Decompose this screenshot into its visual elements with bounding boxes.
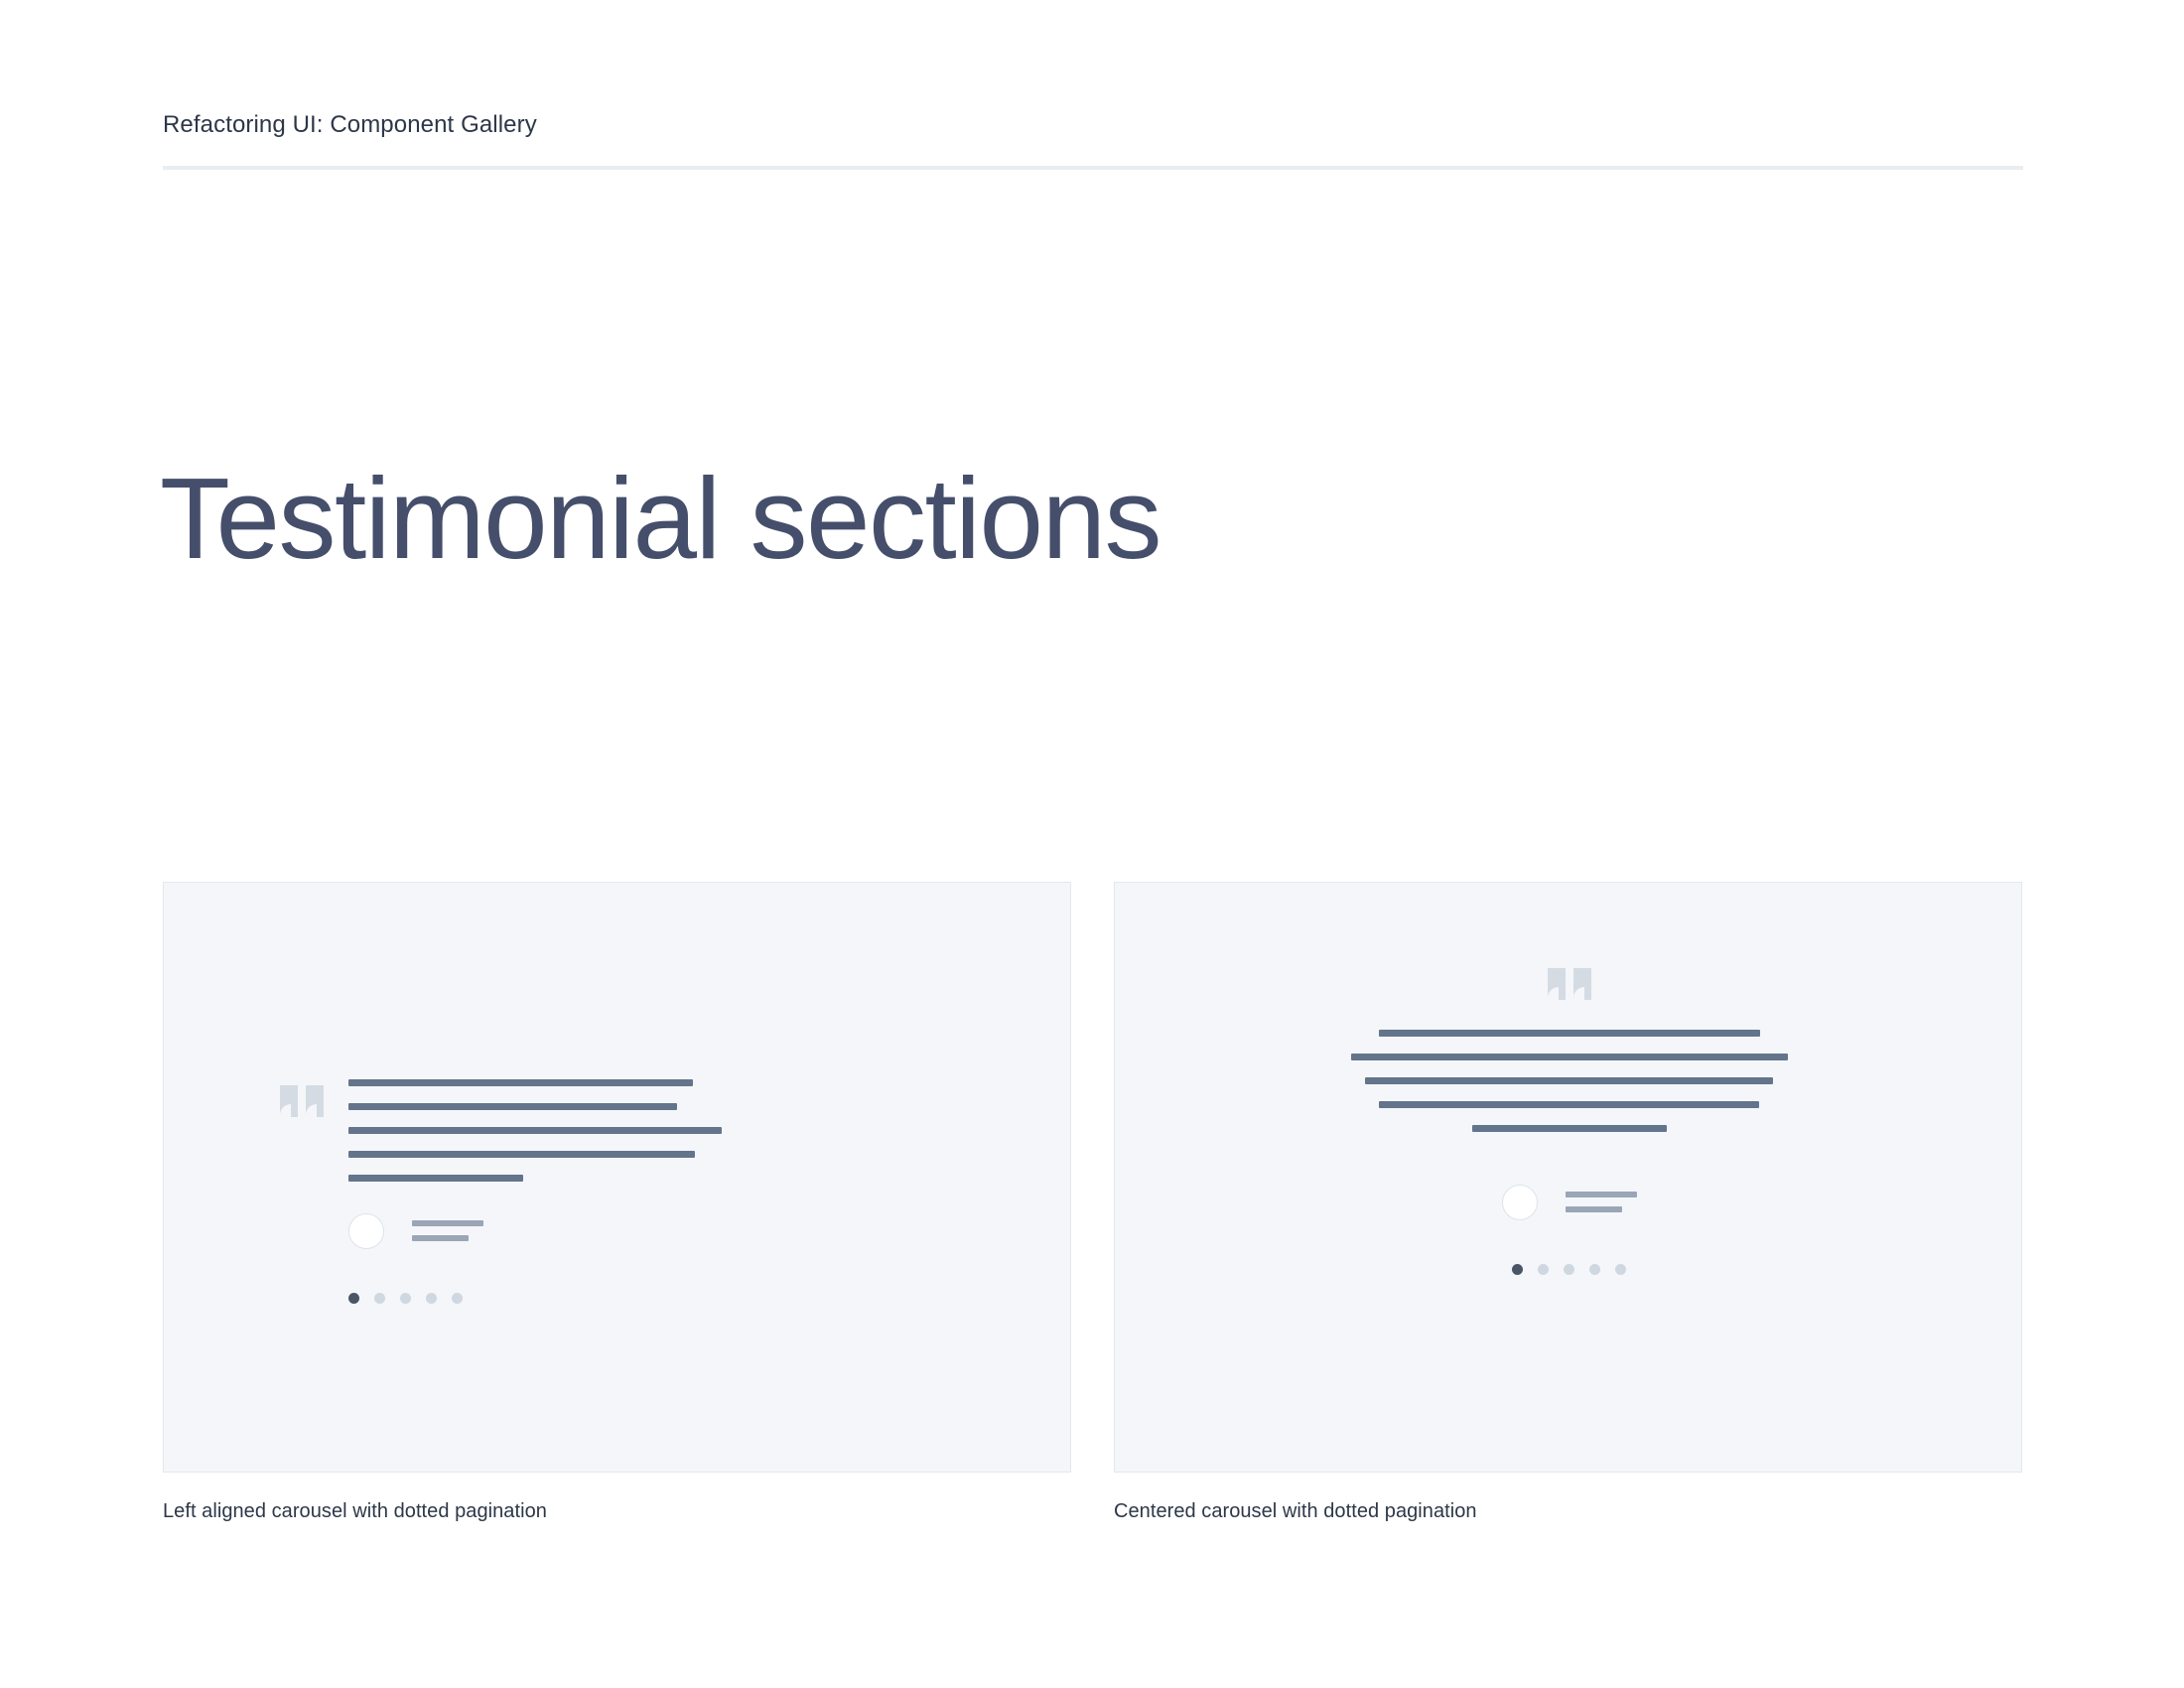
quote-icon <box>280 1085 324 1119</box>
pagination-dot-4[interactable] <box>426 1293 437 1304</box>
attribution-text-block <box>1566 1185 1637 1212</box>
attribution-line <box>1566 1192 1637 1197</box>
quote-line <box>348 1103 677 1110</box>
quote-glyph-left <box>1548 968 1566 1000</box>
pagination-dot-3[interactable] <box>400 1293 411 1304</box>
quote-line <box>348 1151 695 1158</box>
pagination-dot-4[interactable] <box>1589 1264 1600 1275</box>
avatar <box>348 1213 384 1249</box>
pagination-dot-5[interactable] <box>1615 1264 1626 1275</box>
testimonial-wireframe-left <box>280 1079 955 1304</box>
attribution-line <box>412 1235 469 1241</box>
pagination-dot-1[interactable] <box>1512 1264 1523 1275</box>
attribution-line <box>412 1220 483 1226</box>
quote-line <box>348 1079 693 1086</box>
preview-card-centered[interactable] <box>1114 882 2022 1473</box>
gallery-item-centered: Centered carousel with dotted pagination <box>1114 882 2022 1525</box>
header: Refactoring UI: Component Gallery <box>163 109 2023 141</box>
quote-line <box>1472 1125 1667 1132</box>
header-title: Refactoring UI: Component Gallery <box>163 109 2023 141</box>
page-title: Testimonial sections <box>160 449 1160 588</box>
carousel-pagination-dots[interactable] <box>1512 1264 1626 1275</box>
quote-line <box>1351 1054 1788 1060</box>
preview-card-left-aligned[interactable] <box>163 882 1071 1473</box>
quote-line <box>1379 1030 1760 1037</box>
card-caption: Left aligned carousel with dotted pagina… <box>163 1497 1071 1525</box>
pagination-dot-5[interactable] <box>452 1293 463 1304</box>
testimonial-quote-block <box>348 1079 955 1304</box>
pagination-dot-2[interactable] <box>1538 1264 1549 1275</box>
pagination-dot-1[interactable] <box>348 1293 359 1304</box>
testimonial-quote-block <box>1272 1030 1867 1275</box>
avatar <box>1502 1185 1538 1220</box>
attribution-line <box>1566 1206 1622 1212</box>
quote-glyph-right <box>1573 968 1591 1000</box>
carousel-pagination-dots[interactable] <box>348 1293 955 1304</box>
page-root: Refactoring UI: Component Gallery Testim… <box>0 0 2184 1688</box>
testimonial-wireframe-centered <box>1115 883 2023 1474</box>
quote-line <box>1365 1077 1773 1084</box>
attribution-text-block <box>412 1213 483 1241</box>
testimonial-attribution <box>1502 1185 1637 1220</box>
quote-glyph-left <box>280 1085 298 1117</box>
pagination-dot-3[interactable] <box>1564 1264 1574 1275</box>
quote-line <box>348 1175 523 1182</box>
quote-icon <box>1548 968 1591 1002</box>
card-caption: Centered carousel with dotted pagination <box>1114 1497 2022 1525</box>
quote-line <box>348 1127 722 1134</box>
header-divider <box>163 166 2023 170</box>
pagination-dot-2[interactable] <box>374 1293 385 1304</box>
component-gallery: Left aligned carousel with dotted pagina… <box>163 882 2023 1525</box>
quote-glyph-right <box>306 1085 324 1117</box>
testimonial-attribution <box>348 1213 955 1249</box>
quote-line <box>1379 1101 1759 1108</box>
gallery-item-left-aligned: Left aligned carousel with dotted pagina… <box>163 882 1071 1525</box>
